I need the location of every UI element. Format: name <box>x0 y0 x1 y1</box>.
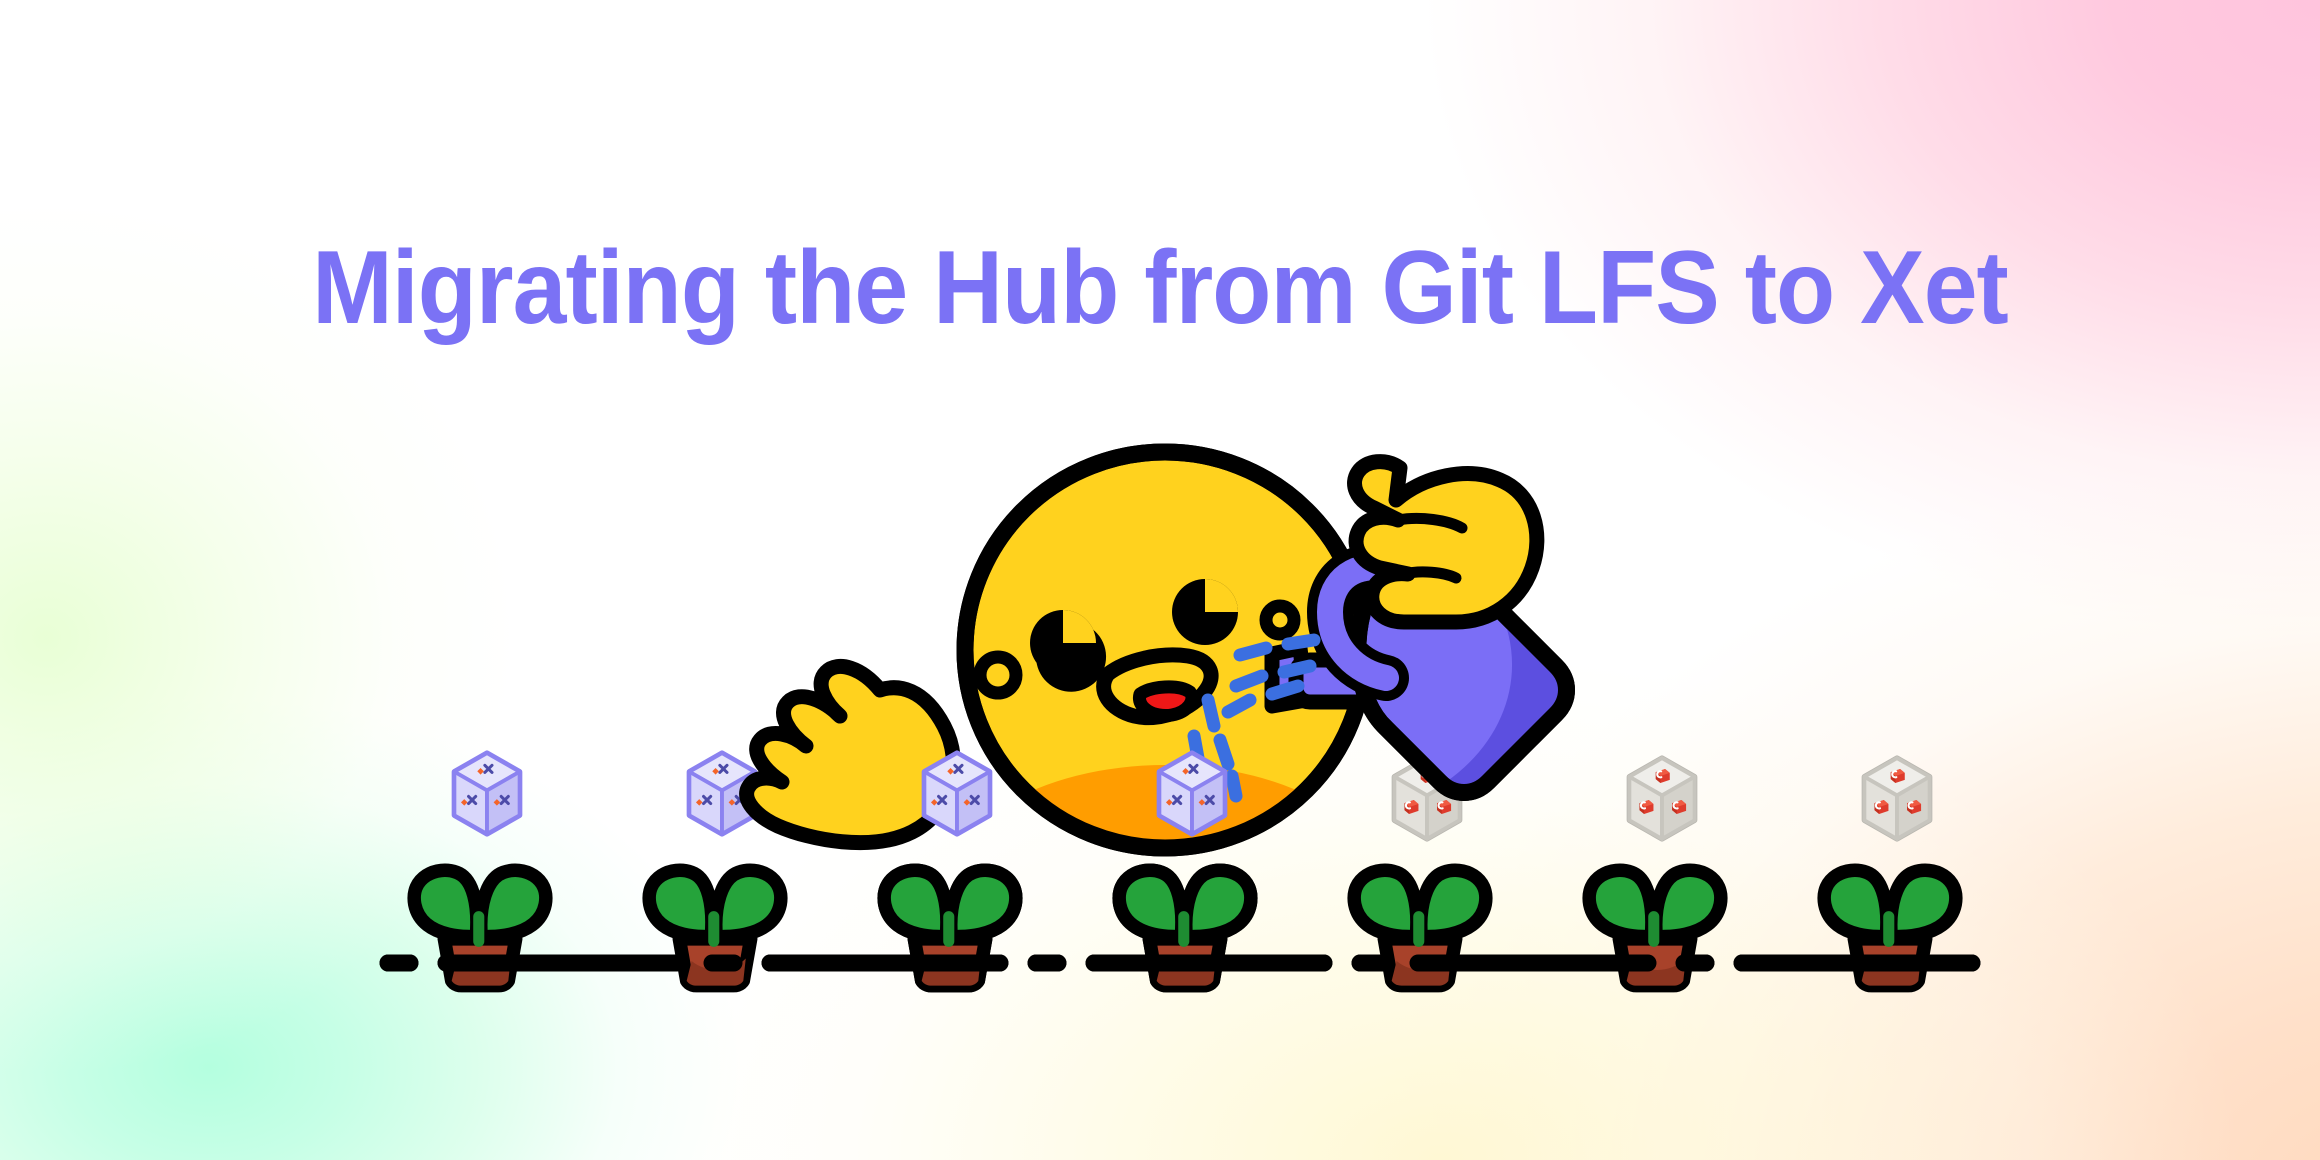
hero-illustration <box>0 0 2320 1160</box>
plant-1 <box>414 753 546 986</box>
plant-7 <box>1824 758 1956 986</box>
plant-6 <box>1589 758 1721 986</box>
xet-cube-4 <box>1159 753 1224 834</box>
git-cube-2 <box>1629 758 1694 839</box>
xet-cube-1 <box>454 753 519 834</box>
git-cube-3 <box>1864 758 1929 839</box>
xet-cube-3 <box>924 753 989 834</box>
foreground-plants <box>388 870 1975 985</box>
mascot-mouth <box>1104 655 1211 718</box>
banner-canvas: Migrating the Hub from Git LFS to Xet <box>0 0 2320 1160</box>
